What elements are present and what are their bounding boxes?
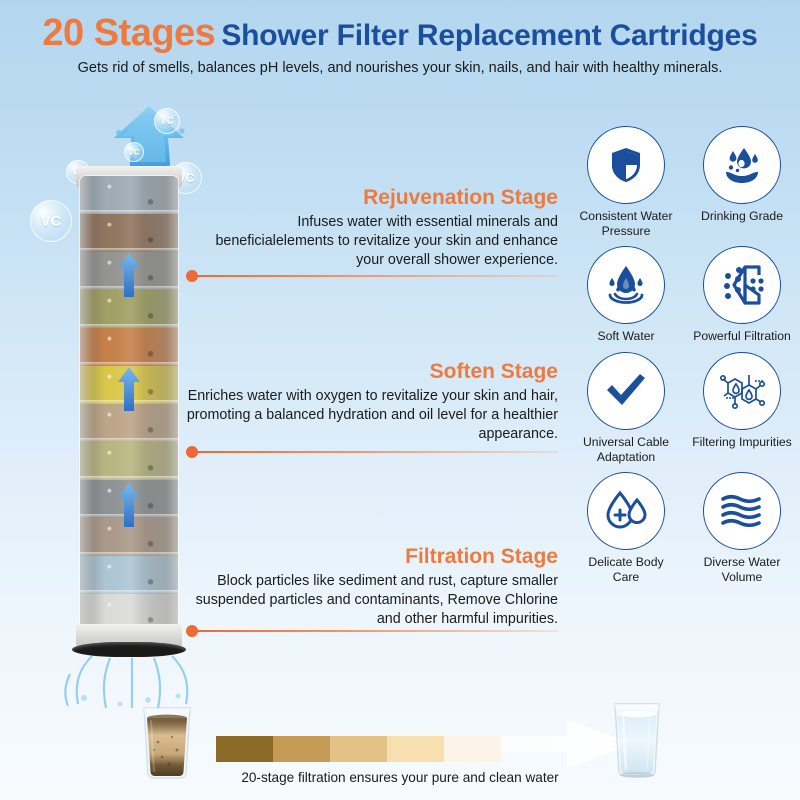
feature-row: Universal Cable Adaptation xyxy=(574,352,794,464)
media-layer xyxy=(80,328,178,366)
feature-row: Soft Water xyxy=(574,246,794,344)
title-highlight: 20 Stages xyxy=(42,12,215,54)
feature-icon-circle xyxy=(587,246,665,324)
water-flow-arrow-icon xyxy=(117,482,141,528)
droplet-ripple-icon xyxy=(604,264,648,306)
feature-universal-cable-adaptation[interactable]: Universal Cable Adaptation xyxy=(574,352,678,464)
title-main: Shower Filter Replacement Cartridges xyxy=(221,19,757,52)
feature-label: Delicate Body Care xyxy=(574,555,678,584)
feature-grid: Consistent Water Pressure Drinking Grade xyxy=(574,126,794,592)
feature-label: Drinking Grade xyxy=(690,209,794,224)
water-flow-arrow-icon xyxy=(117,252,141,298)
media-layer xyxy=(80,176,178,214)
page-subtitle: Gets rid of smells, balances pH levels, … xyxy=(0,60,800,76)
vc-bubble: VC xyxy=(30,200,72,242)
feature-label: Powerful Filtration xyxy=(690,329,794,344)
shield-icon xyxy=(606,145,646,185)
stage-title: Filtration Stage xyxy=(186,545,558,568)
feature-label: Diverse Water Volume xyxy=(690,555,794,584)
connector-line xyxy=(196,451,558,453)
feature-icon-circle xyxy=(703,126,781,204)
checkmark-icon xyxy=(604,371,648,411)
connector-dot xyxy=(186,625,198,637)
connector-line xyxy=(196,630,558,632)
feature-label: Soft Water xyxy=(574,329,678,344)
feature-drinking-grade[interactable]: Drinking Grade xyxy=(690,126,794,238)
clean-water-glass xyxy=(606,700,668,778)
stage-body: Block particles like sediment and rust, … xyxy=(186,572,558,629)
feature-soft-water[interactable]: Soft Water xyxy=(574,246,678,344)
feature-label: Universal Cable Adaptation xyxy=(574,435,678,464)
feature-delicate-body-care[interactable]: Delicate Body Care xyxy=(574,472,678,584)
water-drops-bowl-icon xyxy=(720,145,764,185)
page-title: 20 StagesShower Filter Replacement Cartr… xyxy=(0,14,800,52)
stage-title: Soften Stage xyxy=(186,360,558,383)
molecule-impurities-icon xyxy=(719,369,765,413)
connector-dot xyxy=(186,446,198,458)
feature-diverse-water-volume[interactable]: Diverse Water Volume xyxy=(690,472,794,584)
stage-body: Enriches water with oxygen to revitalize… xyxy=(186,387,558,444)
gradient-swatch xyxy=(216,736,273,762)
filter-membrane-icon xyxy=(719,264,765,306)
feature-icon-circle xyxy=(703,472,781,550)
feature-icon-circle xyxy=(587,352,665,430)
filtration-gradient-swatches xyxy=(216,736,501,762)
stage-block-soften: Soften Stage Enriches water with oxygen … xyxy=(186,360,558,444)
feature-label: Consistent Water Pressure xyxy=(574,209,678,238)
feature-powerful-filtration[interactable]: Powerful Filtration xyxy=(690,246,794,344)
connector-rejuvenation xyxy=(186,270,558,282)
gradient-swatch xyxy=(330,736,387,762)
water-waves-icon xyxy=(719,493,765,529)
vc-bubble: VC xyxy=(154,108,180,134)
feature-icon-circle xyxy=(703,246,781,324)
stage-block-rejuvenation: Rejuvenation Stage Infuses water with es… xyxy=(186,186,558,270)
water-flow-arrow-icon xyxy=(117,366,141,412)
gradient-swatch xyxy=(444,736,501,762)
connector-soften xyxy=(186,446,558,458)
gradient-swatch xyxy=(273,736,330,762)
connector-dot xyxy=(186,270,198,282)
stage-block-filtration: Filtration Stage Block particles like se… xyxy=(186,545,558,629)
media-layer xyxy=(80,214,178,252)
media-layer xyxy=(80,556,178,594)
vc-bubble: VC xyxy=(124,142,144,162)
droplet-plus-icon xyxy=(603,490,649,532)
feature-row: Consistent Water Pressure Drinking Grade xyxy=(574,126,794,238)
feature-icon-circle xyxy=(703,352,781,430)
feature-consistent-water-pressure[interactable]: Consistent Water Pressure xyxy=(574,126,678,238)
connector-filtration xyxy=(186,625,558,637)
feature-icon-circle xyxy=(587,472,665,550)
feature-icon-circle xyxy=(587,126,665,204)
feature-row: Delicate Body Care Diverse Water Volume xyxy=(574,472,794,584)
comparison-caption: 20-stage filtration ensures your pure an… xyxy=(160,770,640,785)
gradient-swatch xyxy=(387,736,444,762)
header: 20 StagesShower Filter Replacement Cartr… xyxy=(0,14,800,76)
feature-label: Filtering Impurities xyxy=(690,435,794,450)
dirty-water-glass xyxy=(136,702,198,780)
connector-line xyxy=(196,275,558,277)
infographic-canvas: 20 StagesShower Filter Replacement Cartr… xyxy=(0,0,800,800)
stage-title: Rejuvenation Stage xyxy=(186,186,558,209)
stage-body: Infuses water with essential minerals an… xyxy=(186,213,558,270)
feature-filtering-impurities[interactable]: Filtering Impurities xyxy=(690,352,794,464)
media-layer xyxy=(80,442,178,480)
